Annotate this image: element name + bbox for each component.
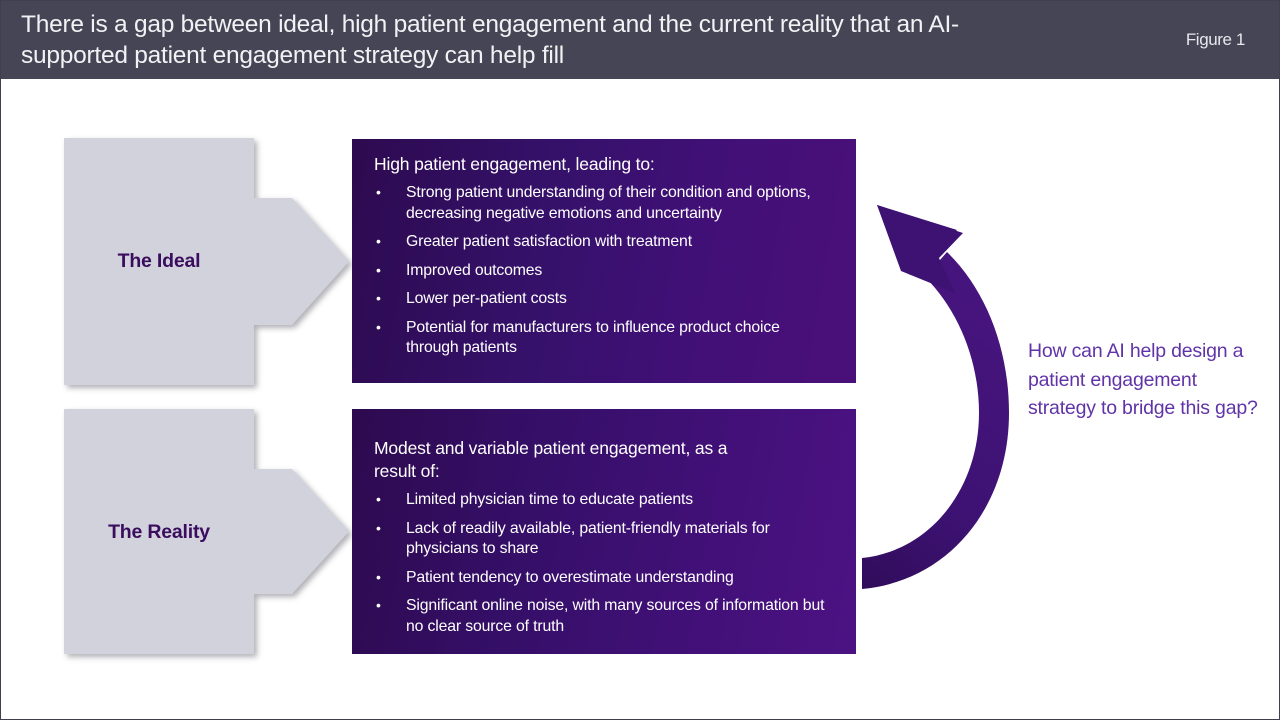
list-item: Strong patient understanding of their co… [364,183,834,224]
reality-label-text: The Reality [64,521,254,544]
curved-arrow-icon [857,197,1037,621]
list-item: Patient tendency to overestimate underst… [364,568,834,589]
list-item: Significant online noise, with many sour… [364,596,834,637]
ideal-label-text: The Ideal [64,250,254,273]
ideal-panel-heading: High patient engagement, leading to: [364,153,794,176]
list-item: Potential for manufacturers to influence… [364,318,834,359]
reality-label-arrow-shape: The Reality [64,409,349,654]
ideal-bullet-list: Strong patient understanding of their co… [364,183,834,359]
list-item: Lack of readily available, patient-frien… [364,519,834,560]
list-item: Greater patient satisfaction with treatm… [364,232,834,253]
slide-header: There is a gap between ideal, high patie… [1,1,1280,79]
list-item: Lower per-patient costs [364,289,834,310]
list-item: Improved outcomes [364,261,834,282]
ideal-label-arrow-shape: The Ideal [64,138,349,385]
reality-bullet-list: Limited physician time to educate patien… [364,490,834,637]
ideal-content-panel: High patient engagement, leading to: Str… [352,139,856,383]
slide-canvas: There is a gap between ideal, high patie… [0,0,1280,720]
reality-panel-heading: Modest and variable patient engagement, … [364,437,762,483]
list-item: Limited physician time to educate patien… [364,490,834,511]
figure-label: Figure 1 [1186,30,1280,50]
page-title: There is a gap between ideal, high patie… [1,9,1001,71]
question-callout-text: How can AI help design a patient engagem… [1028,337,1260,423]
reality-content-panel: Modest and variable patient engagement, … [352,409,856,654]
